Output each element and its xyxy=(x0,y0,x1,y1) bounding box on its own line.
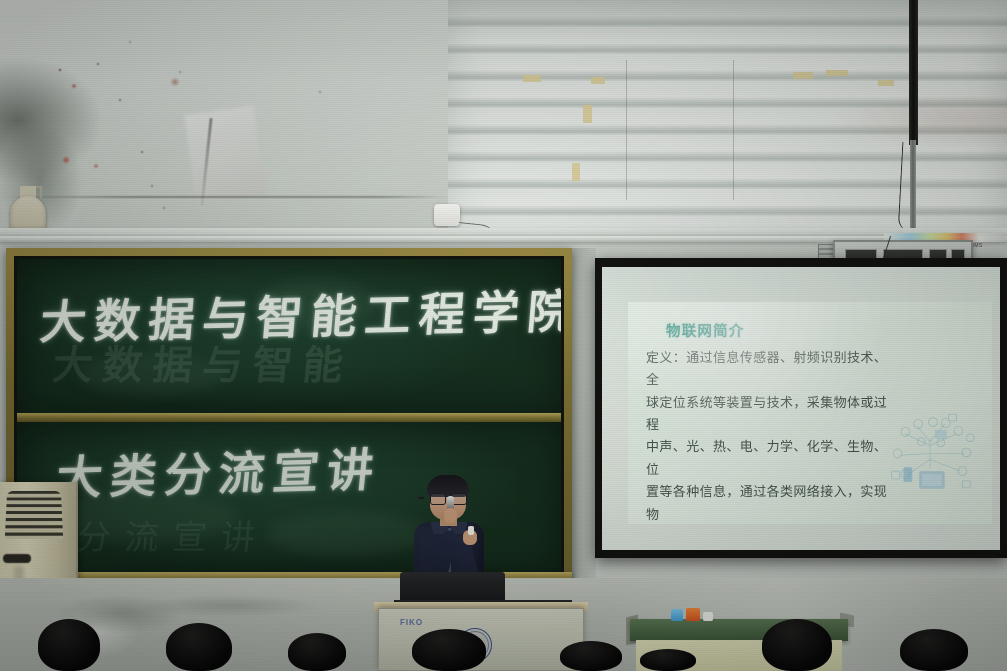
panel-seam xyxy=(626,60,627,200)
glasses-bridge xyxy=(418,497,424,499)
tape-residue xyxy=(591,77,605,84)
slide-line: 球定位系统等装置与技术，采集物体或过程 xyxy=(646,396,887,433)
tape-residue xyxy=(523,75,541,82)
lecture-hall-scene: 14MS 大数据与智能 大数据与智能工程学院 分流宣讲 大类分流宣讲 xyxy=(0,0,1007,671)
slide-line: 定义：通过信息传感器、射频识别技术、全 xyxy=(646,351,887,388)
chalk-piece xyxy=(468,526,474,535)
tape-residue xyxy=(793,72,813,79)
tape-residue xyxy=(583,105,592,123)
audience-head xyxy=(166,623,232,671)
iot-network-diagram-icon xyxy=(876,398,984,502)
panel-seam xyxy=(733,60,734,200)
chalkboard-subheading-text: 大类分流宣讲 xyxy=(53,434,384,508)
audience-head xyxy=(412,629,486,671)
desk-item-white xyxy=(703,612,713,621)
podium-brand-label: FIKO xyxy=(400,618,423,627)
wall-scuff-mark xyxy=(184,106,266,205)
audience-head xyxy=(38,619,100,671)
ceiling-cable-dark xyxy=(909,0,918,145)
audience-head xyxy=(560,641,622,671)
wall-speaker xyxy=(10,196,46,232)
chalkboard-heading-text: 大数据与智能工程学院 xyxy=(38,275,561,352)
wall-sensor-box xyxy=(434,204,460,226)
presenter-hand-left xyxy=(444,508,457,523)
slide-content: 物联网简介 定义：通过信息传感器、射频识别技术、全 球定位系统等装置与技术，采集… xyxy=(628,302,992,524)
chalkboard-divider-rail xyxy=(17,413,561,422)
tape-residue xyxy=(572,163,580,181)
slatted-wall-panel xyxy=(448,0,1007,238)
projection-screen: 物联网简介 定义：通过信息传感器、射频识别技术、全 球定位系统等装置与技术，采集… xyxy=(595,258,1007,558)
slide-title: 物联网简介 xyxy=(666,320,745,341)
slide-line: 中声、光、热、电、力学、化学、生物、位 xyxy=(646,440,887,477)
audience-head xyxy=(900,629,968,671)
wall-seam-line xyxy=(0,196,448,198)
chalkboard-upper-panel: 大数据与智能 大数据与智能工程学院 xyxy=(17,259,561,413)
upper-wall-left xyxy=(0,0,448,236)
desk-item-blue-box xyxy=(671,609,683,621)
ac-vent-grille xyxy=(5,491,63,539)
desk-item-orange-box xyxy=(686,608,700,621)
tape-residue xyxy=(826,70,848,76)
ac-control-slot xyxy=(3,554,31,563)
wall-crack xyxy=(200,118,212,206)
slide-body-text: 定义：通过信息传感器、射频识别技术、全 球定位系统等装置与技术，采集物体或过程 … xyxy=(646,348,896,524)
audience-head xyxy=(640,649,696,671)
audience-head xyxy=(288,633,346,671)
chalkboard-faded-text: 分流宣讲 xyxy=(75,510,271,559)
slide-line: 置等各种信息，通过各类网络接入，实现物 xyxy=(646,485,887,522)
projection-screen-surface: 物联网简介 定义：通过信息传感器、射频识别技术、全 球定位系统等装置与技术，采集… xyxy=(602,267,1000,550)
tape-residue xyxy=(878,80,894,86)
wall-between-board-and-screen xyxy=(572,248,596,580)
audience-head xyxy=(762,619,832,671)
